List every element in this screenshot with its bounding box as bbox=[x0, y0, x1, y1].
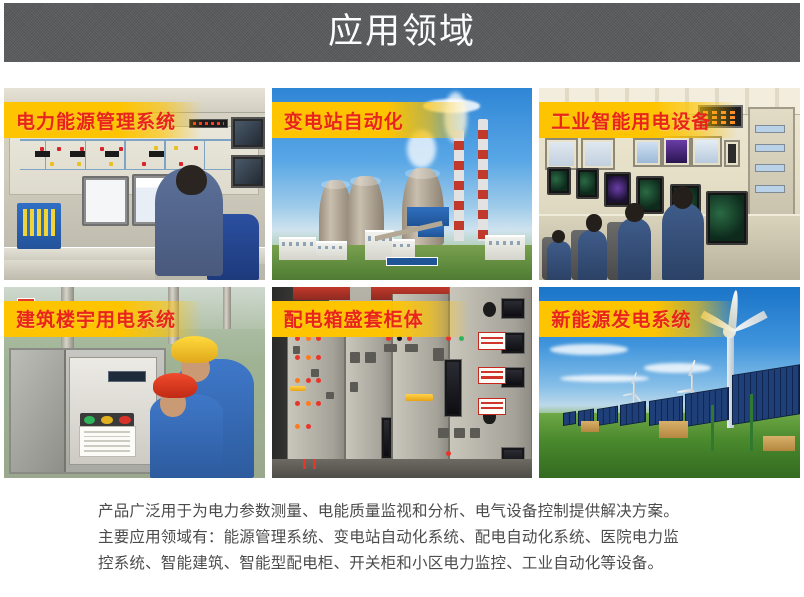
panel-label-text: 配电箱盛套柜体 bbox=[284, 305, 424, 332]
panel-power-energy-management[interactable]: 电力能源管理系统 bbox=[4, 88, 265, 280]
hard-hat-yellow bbox=[171, 336, 218, 363]
page-title: 应用领域 bbox=[328, 15, 476, 50]
application-areas-grid: 电力能源管理系统 变电站自动化 bbox=[4, 88, 800, 478]
page-banner: 应用领域 bbox=[4, 3, 800, 62]
panel-substation-automation[interactable]: 变电站自动化 bbox=[272, 88, 533, 280]
panel-label-text: 变电站自动化 bbox=[284, 107, 404, 134]
panel-label-text: 工业智能用电设备 bbox=[551, 107, 711, 134]
panel-label-new-energy-power-generation: 新能源发电系统 bbox=[539, 301, 737, 337]
electrical-cabinet bbox=[9, 348, 165, 474]
description-line-3: 控系统、智能建筑、智能型配电柜、开关柜和小区电力监控、工业自动化等设备。 bbox=[98, 550, 718, 576]
panel-label-power-energy-management: 电力能源管理系统 bbox=[4, 102, 202, 138]
panel-new-energy-power-generation[interactable]: 新能源发电系统 bbox=[539, 287, 800, 479]
panel-industrial-smart-power-equipment[interactable]: 工业智能用电设备 bbox=[539, 88, 800, 280]
description-line-1: 产品广泛用于为电力参数测量、电能质量监视和分析、电气设备控制提供解决方案。 bbox=[98, 498, 718, 524]
panel-label-building-power-system: 建筑楼宇用电系统 bbox=[4, 301, 202, 337]
panel-distribution-cabinet[interactable]: 配电箱盛套柜体 bbox=[272, 287, 533, 479]
panel-building-power-system[interactable]: 建筑楼宇用电系统 bbox=[4, 287, 265, 479]
panel-label-text: 新能源发电系统 bbox=[551, 305, 691, 332]
panel-label-text: 建筑楼宇用电系统 bbox=[16, 305, 176, 332]
panel-label-distribution-cabinet: 配电箱盛套柜体 bbox=[272, 301, 470, 337]
panel-label-industrial-smart-power-equipment: 工业智能用电设备 bbox=[539, 102, 737, 138]
description-block: 产品广泛用于为电力参数测量、电能质量监视和分析、电气设备控制提供解决方案。 主要… bbox=[98, 498, 718, 576]
panel-label-substation-automation: 变电站自动化 bbox=[272, 102, 470, 138]
description-line-2: 主要应用领域有：能源管理系统、变电站自动化系统、配电自动化系统、医院电力监 bbox=[98, 524, 718, 550]
hard-hat-red bbox=[153, 373, 197, 398]
panel-label-text: 电力能源管理系统 bbox=[16, 107, 176, 134]
